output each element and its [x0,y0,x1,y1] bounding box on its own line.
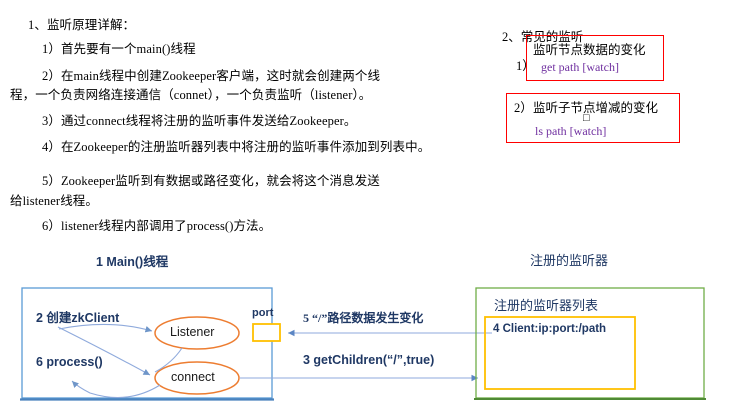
article-text-block: 1、监听原理详解： 1）首先要有一个main()线程 2）在main线程中创建Z… [0,0,480,245]
port-box [253,324,280,341]
registered-watcher-list-title: 注册的监听器列表 [494,295,598,314]
watch-flow-diagram: 1 Main()线程 注册的监听器 2 创建zkClient 6 process… [0,245,732,419]
empty-square-glyph: □ [583,113,590,124]
arrow-connect-to-process [72,381,160,398]
connect-node-label: connect [171,370,215,384]
article-line-5b: 给listener线程。 [10,194,98,208]
registered-watcher-title: 注册的监听器 [530,250,608,269]
diagram-vector-layer [0,245,732,419]
listener-node-label: Listener [170,325,214,339]
watch-box-2-title: 监听子节点增减的变化 [533,97,658,116]
common-watches-block: 2、常见的监听 1） 监听节点数据的变化 get path [watch] 2）… [480,0,732,245]
article-line-4: 4）在Zookeeper的注册监听器列表中将注册的监听事件添加到列表中。 [42,140,430,154]
create-zkclient-label: 2 创建zkClient [36,307,119,326]
article-line-1: 1）首先要有一个main()线程 [42,42,196,56]
port-label: port [252,307,273,319]
client-entry-label: 4 Client:ip:port:/path [493,323,606,335]
watch-box-1-command: get path [watch] [541,60,619,75]
watch-box-2-command: ls path [watch] [535,124,606,139]
article-line-2: 2）在main线程中创建Zookeeper客户端，这时就会创建两个线 [42,69,380,83]
article-line-3: 3）通过connect线程将注册的监听事件发送给Zookeeper。 [42,114,356,128]
arrow-label-path-data-changed: 5 “/”路径数据发生变化 [303,309,423,326]
watch-item-2-number: 2） [514,97,533,116]
watch-box-node-data: 监听节点数据的变化 get path [watch] [526,35,664,81]
article-line-2b: 程，一个负责网络连接通信（connet），一个负责监听（listener）。 [10,88,371,102]
watch-box-child-nodes: 2） 监听子节点增减的变化 □ ls path [watch] [506,93,680,143]
watch-box-1-title: 监听节点数据的变化 [533,39,646,58]
article-line-5: 5）Zookeeper监听到有数据或路径变化，就会将这个消息发送 [42,174,380,188]
process-label: 6 process() [36,355,103,369]
arrow-label-get-children: 3 getChildren(“/”,true) [303,353,434,367]
main-thread-title: 1 Main()线程 [96,251,168,270]
section-1-title: 1、监听原理详解： [28,18,135,32]
article-line-6: 6）listener线程内部调用了process()方法。 [42,219,271,233]
